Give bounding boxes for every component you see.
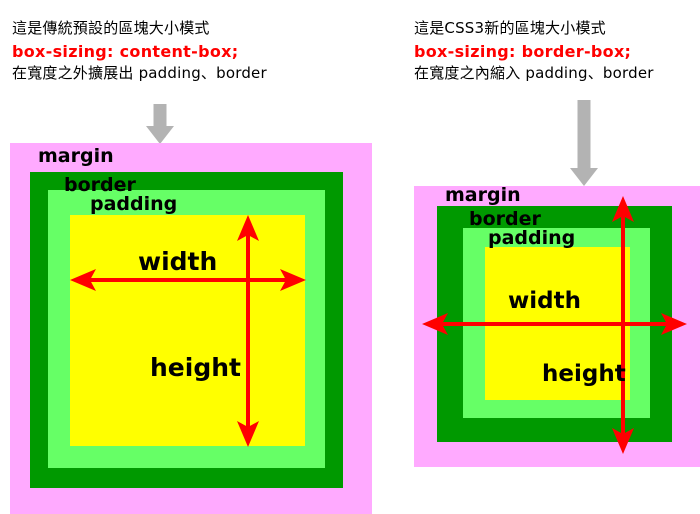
down-arrow-icon [568,100,600,186]
down-arrow-icon [144,104,176,144]
measure-height-arrow [233,215,263,447]
measure-height-arrow [608,196,638,454]
arrow-shaft [154,104,167,128]
caption-left-line-1: 這是傳統預設的區塊大小模式 [12,18,267,40]
box-model-diagram-content-box: margin border padding width height [10,143,372,514]
label-width: width [138,249,217,274]
arrow-head [570,168,598,186]
label-width: width [508,290,581,313]
label-height: height [150,355,241,380]
label-padding: padding [488,229,575,248]
caption-right-line-1: 這是CSS3新的區塊大小模式 [414,18,654,40]
arrow-head [146,126,174,144]
arrow-shaft [578,100,591,170]
box-model-diagram-border-box: margin border padding width height [414,186,700,467]
caption-right-line-3: 在寬度之內縮入 padding、border [414,63,654,85]
label-padding: padding [90,195,177,214]
caption-right-code: box-sizing: border-box; [414,40,654,63]
caption-content-box: 這是傳統預設的區塊大小模式 box-sizing: content-box; 在… [12,18,267,85]
label-height: height [542,363,626,386]
label-margin: margin [445,186,521,205]
caption-left-code: box-sizing: content-box; [12,40,267,63]
caption-border-box: 這是CSS3新的區塊大小模式 box-sizing: border-box; 在… [414,18,654,85]
caption-left-line-3: 在寬度之外擴展出 padding、border [12,63,267,85]
label-margin: margin [38,147,114,166]
